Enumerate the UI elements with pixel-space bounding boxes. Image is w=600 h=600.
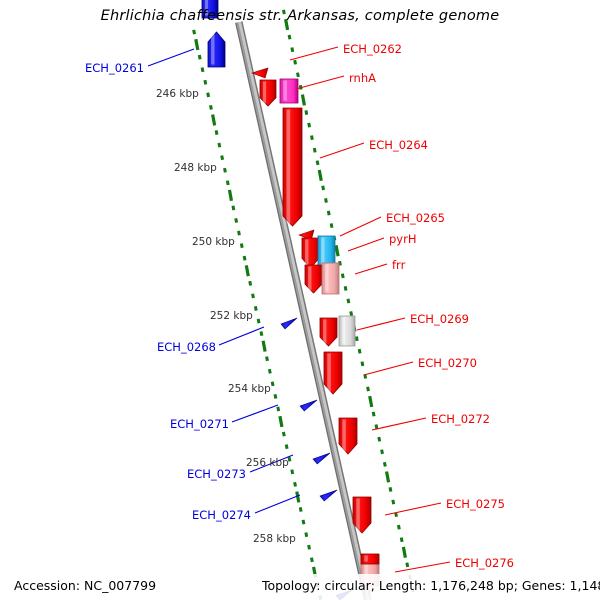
gene-highlight bbox=[325, 265, 328, 292]
gene-highlight bbox=[342, 318, 345, 344]
gene-feature[interactable] bbox=[280, 79, 298, 103]
gene-highlight bbox=[263, 82, 266, 104]
scale-tick-minor bbox=[302, 520, 306, 525]
gene-glyph[interactable] bbox=[324, 352, 342, 394]
scale-tick-minor bbox=[310, 135, 314, 140]
scale-tick-minor bbox=[209, 105, 213, 110]
scale-tick-major bbox=[194, 39, 199, 50]
gene-glyph[interactable] bbox=[313, 453, 330, 464]
scale-label: 246 kbp bbox=[156, 88, 199, 100]
gene-feature[interactable] bbox=[322, 263, 339, 294]
gene-feature[interactable] bbox=[313, 453, 330, 464]
gene-label-ech_0261[interactable]: ECH_0261 bbox=[85, 61, 144, 75]
scale-tick-minor bbox=[400, 537, 404, 542]
gene-glyph[interactable] bbox=[280, 79, 298, 103]
scale-tick-minor bbox=[257, 319, 261, 324]
label-leader-line bbox=[357, 318, 405, 330]
gene-label-ech_0275[interactable]: ECH_0275 bbox=[446, 497, 505, 511]
gene-feature[interactable] bbox=[324, 352, 342, 394]
scale-tick-minor bbox=[293, 482, 297, 487]
gene-glyph[interactable] bbox=[305, 265, 322, 293]
scale-tick-minor bbox=[226, 180, 230, 185]
scale-label: 250 kbp bbox=[192, 236, 235, 248]
scale-tick-major bbox=[368, 396, 373, 407]
scale-tick-minor bbox=[347, 299, 351, 304]
scale-tick-minor bbox=[240, 243, 244, 248]
scale-tick-minor bbox=[377, 437, 381, 442]
scale-tick-minor bbox=[324, 198, 328, 203]
gene-highlight bbox=[323, 320, 326, 344]
scale-tick-major bbox=[278, 416, 283, 427]
scale-tick-minor bbox=[215, 130, 219, 135]
scale-tick-minor bbox=[296, 72, 300, 77]
gene-feature[interactable] bbox=[302, 238, 319, 268]
genome-viewer-canvas[interactable]: Ehrlichia chaffeensis str. Arkansas, com… bbox=[0, 0, 600, 600]
gene-highlight bbox=[211, 34, 214, 65]
scale-tick-minor bbox=[276, 407, 280, 412]
gene-feature[interactable] bbox=[320, 490, 337, 501]
scale-tick-minor bbox=[316, 160, 320, 165]
gene-glyph[interactable] bbox=[260, 80, 276, 106]
gene-glyph[interactable] bbox=[353, 497, 371, 533]
gene-feature[interactable] bbox=[260, 80, 276, 106]
scale-tick-minor bbox=[349, 311, 353, 316]
scale-tick-minor bbox=[299, 507, 303, 512]
scale-tick-minor bbox=[285, 444, 289, 449]
genome-graphics-layer bbox=[0, 0, 600, 600]
scale-tick-minor bbox=[304, 532, 308, 537]
scale-tick-minor bbox=[405, 562, 409, 567]
scale-tick-minor bbox=[192, 30, 196, 35]
scale-tick-minor bbox=[383, 462, 387, 467]
gene-glyph[interactable] bbox=[339, 316, 355, 346]
label-leader-line bbox=[348, 238, 384, 251]
scale-tick-minor bbox=[251, 293, 255, 298]
scale-tick-minor bbox=[234, 218, 238, 223]
gene-feature[interactable] bbox=[281, 318, 297, 329]
gene-glyph[interactable] bbox=[320, 318, 337, 346]
label-leader-line bbox=[232, 405, 278, 422]
gene-highlight bbox=[327, 354, 331, 392]
label-leader-line bbox=[355, 264, 387, 274]
scale-tick-minor bbox=[341, 273, 345, 278]
gene-glyph[interactable] bbox=[339, 418, 357, 454]
scale-tick-minor bbox=[201, 67, 205, 72]
scale-tick-minor bbox=[389, 487, 393, 492]
scale-label: 252 kbp bbox=[210, 310, 253, 322]
label-leader-line bbox=[340, 217, 381, 236]
label-leader-line bbox=[290, 47, 338, 60]
scale-tick-minor bbox=[327, 211, 331, 216]
scale-tick-major bbox=[228, 190, 233, 201]
gene-glyph[interactable] bbox=[361, 554, 379, 564]
gene-highlight bbox=[305, 240, 308, 266]
scale-tick-minor bbox=[372, 412, 376, 417]
gene-glyph[interactable] bbox=[322, 263, 339, 294]
gene-highlight bbox=[286, 110, 290, 224]
scale-tick-minor bbox=[206, 92, 210, 97]
scale-tick-major bbox=[402, 547, 407, 558]
gene-label-ech_0276[interactable]: ECH_0276 bbox=[455, 556, 514, 570]
scale-tick-minor bbox=[274, 394, 278, 399]
status-bar: Accession: NC_007799 Topology: circular;… bbox=[0, 574, 600, 600]
gene-glyph[interactable] bbox=[302, 238, 319, 268]
gene-feature[interactable] bbox=[339, 418, 357, 454]
gene-feature[interactable] bbox=[208, 32, 225, 67]
label-leader-line bbox=[372, 418, 426, 430]
scale-tick-minor bbox=[361, 361, 365, 366]
gene-glyph[interactable] bbox=[320, 490, 337, 501]
gene-label-frr[interactable]: frr bbox=[392, 258, 405, 272]
scale-tick-major bbox=[318, 170, 323, 181]
label-leader-line bbox=[148, 49, 194, 66]
page-title: Ehrlichia chaffeensis str. Arkansas, com… bbox=[0, 8, 600, 24]
scale-tick-minor bbox=[198, 55, 202, 60]
scale-tick-minor bbox=[293, 60, 297, 65]
scale-tick-minor bbox=[304, 110, 308, 115]
scale-tick-minor bbox=[355, 336, 359, 341]
scale-tick-minor bbox=[391, 500, 395, 505]
gene-label-ech_0269[interactable]: ECH_0269 bbox=[410, 312, 469, 326]
scale-label: 248 kbp bbox=[174, 162, 217, 174]
scale-tick-minor bbox=[307, 545, 311, 550]
accession-label: Accession: NC_007799 bbox=[14, 578, 156, 593]
axis-band bbox=[241, 21, 372, 599]
scale-tick-minor bbox=[397, 525, 401, 530]
gene-glyph[interactable] bbox=[208, 32, 225, 67]
gene-highlight bbox=[308, 267, 311, 291]
gene-label-ech_0262[interactable]: ECH_0262 bbox=[343, 42, 402, 56]
gene-label-ech_0265[interactable]: ECH_0265 bbox=[386, 211, 445, 225]
gene-label-ech_0270[interactable]: ECH_0270 bbox=[418, 356, 477, 370]
scale-label: 258 kbp bbox=[253, 533, 296, 545]
label-leader-line bbox=[320, 143, 364, 158]
scale-tick-minor bbox=[330, 223, 334, 228]
gene-feature[interactable] bbox=[300, 400, 317, 411]
scale-tick-minor bbox=[290, 469, 294, 474]
topology-label: Topology: circular; Length: 1,176,248 bp… bbox=[262, 578, 600, 593]
scale-tick-minor bbox=[254, 306, 258, 311]
scale-tick-minor bbox=[223, 168, 227, 173]
gene-label-ech_0274[interactable]: ECH_0274 bbox=[192, 508, 251, 522]
scale-tick-minor bbox=[288, 35, 292, 40]
gene-feature[interactable] bbox=[361, 554, 379, 564]
scale-tick-minor bbox=[282, 432, 286, 437]
label-leader-line bbox=[219, 327, 264, 345]
scale-tick-major bbox=[385, 471, 390, 482]
gene-glyph[interactable] bbox=[300, 400, 317, 411]
gene-feature[interactable] bbox=[320, 318, 337, 346]
gene-feature[interactable] bbox=[353, 497, 371, 533]
scale-tick-minor bbox=[268, 369, 272, 374]
gene-label-ech_0271[interactable]: ECH_0271 bbox=[170, 417, 229, 431]
scale-tick-minor bbox=[321, 185, 325, 190]
gene-glyph[interactable] bbox=[283, 108, 302, 226]
label-leader-line bbox=[364, 362, 413, 375]
scale-tick-minor bbox=[260, 331, 264, 336]
gene-highlight bbox=[356, 499, 360, 531]
scale-tick-minor bbox=[271, 381, 275, 386]
scale-tick-minor bbox=[237, 231, 241, 236]
gene-label-ech_0264[interactable]: ECH_0264 bbox=[369, 138, 428, 152]
gene-highlight bbox=[364, 556, 368, 562]
scale-tick-major bbox=[262, 340, 267, 351]
gene-highlight bbox=[342, 420, 346, 452]
scale-label: 254 kbp bbox=[228, 383, 271, 395]
label-leader-line bbox=[296, 76, 344, 89]
scale-tick-major bbox=[211, 114, 216, 125]
scale-tick-minor bbox=[231, 205, 235, 210]
scale-tick-minor bbox=[220, 155, 224, 160]
scale-tick-minor bbox=[380, 449, 384, 454]
label-leader-line bbox=[385, 503, 441, 515]
gene-feature[interactable] bbox=[283, 108, 302, 226]
scale-label: 256 kbp bbox=[246, 457, 289, 469]
gene-label-ech_0268[interactable]: ECH_0268 bbox=[157, 340, 216, 354]
gene-label-pyrh[interactable]: pyrH bbox=[389, 232, 416, 246]
scale-tick-minor bbox=[265, 356, 269, 361]
gene-label-rnha[interactable]: rnhA bbox=[349, 71, 376, 85]
scale-tick-minor bbox=[344, 286, 348, 291]
scale-tick-minor bbox=[290, 47, 294, 52]
gene-label-ech_0273[interactable]: ECH_0273 bbox=[187, 467, 246, 481]
label-leader-line bbox=[395, 562, 450, 572]
gene-glyph[interactable] bbox=[281, 318, 297, 329]
scale-tick-minor bbox=[366, 386, 370, 391]
scale-tick-minor bbox=[203, 80, 207, 85]
scale-tick-minor bbox=[248, 281, 252, 286]
scale-tick-minor bbox=[358, 349, 362, 354]
scale-tick-minor bbox=[313, 148, 317, 153]
gene-feature[interactable] bbox=[339, 316, 355, 346]
scale-tick-minor bbox=[307, 123, 311, 128]
gene-label-ech_0272[interactable]: ECH_0272 bbox=[431, 412, 490, 426]
scale-tick-minor bbox=[217, 143, 221, 148]
scale-tick-major bbox=[245, 265, 250, 276]
scale-tick-minor bbox=[243, 256, 247, 261]
scale-tick-major bbox=[301, 94, 306, 105]
label-leader-line bbox=[255, 495, 300, 513]
gene-feature[interactable] bbox=[305, 265, 322, 293]
axis-band bbox=[238, 22, 370, 600]
gene-highlight bbox=[283, 81, 287, 101]
scale-tick-minor bbox=[310, 557, 314, 562]
